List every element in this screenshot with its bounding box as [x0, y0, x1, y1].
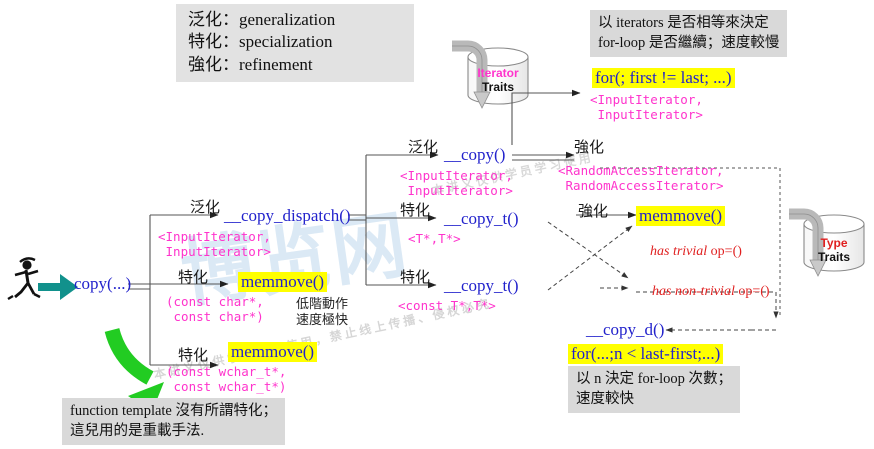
node-copy-t-2-name: __copy_t()	[444, 276, 519, 296]
node-random-access-template: <RandomAccessIterator, RandomAccessItera…	[558, 163, 724, 194]
iterator-traits-subtitle: Traits	[468, 80, 528, 94]
trivial-italic-text: has trivial	[650, 244, 707, 259]
note-iterator-loop: 以 iterators 是否相等來決定 for-loop 是否繼續；速度較慢	[590, 10, 787, 57]
node-memmove-char-template: (const char*, const char*)	[166, 294, 264, 325]
edge-label-refinement-1: 強化	[574, 136, 604, 157]
non-trivial-rest-text: op=()	[735, 284, 770, 299]
node-memmove-char-annotation: 低階動作 速度極快	[296, 296, 348, 329]
non-trivial-italic-text: has non-trivial	[652, 284, 735, 299]
node-copy-t-2-template: <const T*,T*>	[398, 298, 496, 313]
node-memmove-wchar-name: memmove()	[228, 342, 317, 362]
node-memmove-char-name: memmove()	[238, 272, 327, 292]
edge-label-refinement-2: 強化	[578, 200, 608, 221]
node-memmove-wchar-template: (const wchar_t*, const wchar_t*)	[166, 364, 286, 395]
type-traits-subtitle: Traits	[804, 250, 864, 264]
iterator-traits-label: Iterator Traits	[468, 66, 528, 94]
connector-layer	[0, 0, 874, 449]
trivial-rest-text: op=()	[707, 244, 742, 259]
node-copy-d-for-line: for(...;n < last-first;...)	[568, 344, 723, 364]
entry-copy-label: copy(...)	[74, 274, 131, 294]
node-copy-t-1-template: <T*,T*>	[408, 231, 461, 246]
edge-label-specialization-1: 特化	[178, 266, 208, 287]
edge-label-generalization-1: 泛化	[190, 196, 220, 217]
node-copy-name: __copy()	[444, 145, 505, 165]
node-copy-d-name: __copy_d()	[586, 320, 664, 340]
node-for-first-last-template: <InputIterator, InputIterator>	[590, 92, 703, 123]
node-memmove-trivial-name: memmove()	[636, 206, 725, 226]
entry-arrow-icon	[38, 274, 78, 300]
node-copy-template: <InputIterator, InputIterator>	[400, 168, 513, 199]
diagram-canvas: 博览网 本讲义仅供学员学习使用，禁止线上传播、侵权必究 本讲义仅供学员学习使用	[0, 0, 874, 449]
node-copy-dispatch-name: __copy_dispatch()	[224, 206, 351, 226]
node-non-trivial-annotation: has non-trivial op=()	[638, 268, 770, 316]
node-copy-dispatch-template: <InputIterator, InputIterator>	[158, 229, 271, 260]
note-function-template: function template 沒有所謂特化； 這兒用的是重載手法.	[62, 398, 285, 445]
note-n-loop: 以 n 決定 for-loop 次數； 速度較快	[568, 366, 740, 413]
legend-box: 泛化：generalization 特化：specialization 強化：r…	[176, 4, 414, 82]
edge-label-specialization-2: 特化	[178, 344, 208, 365]
running-person-icon	[8, 258, 40, 299]
type-traits-label: Type Traits	[804, 236, 864, 264]
edge-label-generalization-2: 泛化	[408, 136, 438, 157]
edge-label-specialization-4: 特化	[400, 266, 430, 287]
node-for-first-last-name: for(; first != last; ...)	[592, 68, 735, 88]
iterator-traits-title: Iterator	[468, 66, 528, 80]
edge-label-specialization-3: 特化	[400, 199, 430, 220]
type-traits-title: Type	[804, 236, 864, 250]
node-copy-t-1-name: __copy_t()	[444, 209, 519, 229]
